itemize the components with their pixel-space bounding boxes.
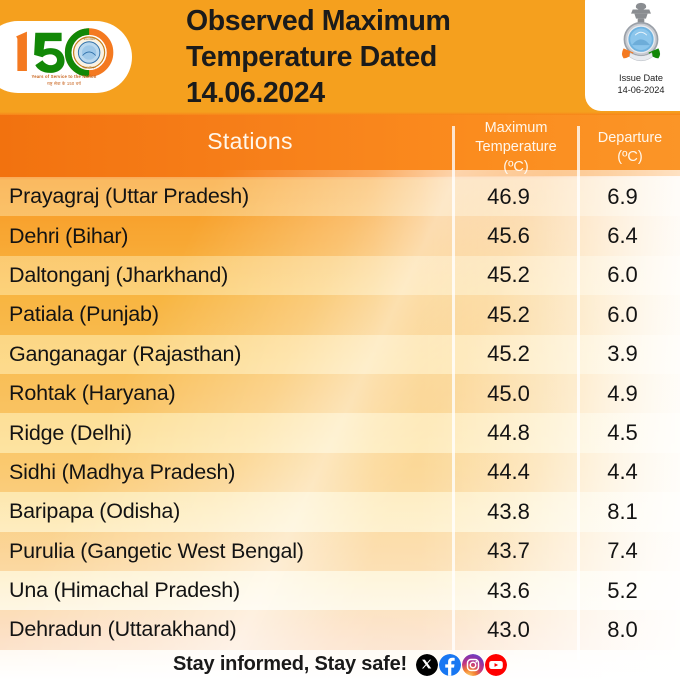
cell-departure: 4.9 — [571, 381, 674, 407]
cell-station: Dehradun (Uttarakhand) — [0, 617, 446, 642]
cell-departure: 6.4 — [571, 223, 674, 249]
cell-departure: 5.2 — [571, 578, 674, 604]
cell-max-temperature: 43.6 — [446, 578, 571, 604]
cell-max-temperature: 45.6 — [446, 223, 571, 249]
cell-max-temperature: 45.2 — [446, 302, 571, 328]
cell-departure: 6.0 — [571, 262, 674, 288]
cell-max-temperature: 45.2 — [446, 341, 571, 367]
instagram-icon[interactable] — [462, 654, 484, 676]
title-line-1: Observed Maximum — [186, 3, 586, 39]
cell-departure: 6.9 — [571, 184, 674, 210]
column-header-stations: Stations — [100, 128, 400, 155]
cell-station: Ridge (Delhi) — [0, 421, 446, 446]
cell-station: Dehri (Bihar) — [0, 224, 446, 249]
cell-max-temperature: 44.4 — [446, 459, 571, 485]
cell-departure: 8.1 — [571, 499, 674, 525]
cell-station: Prayagraj (Uttar Pradesh) — [0, 184, 446, 209]
column-header-departure-label: Departure — [598, 130, 662, 146]
cell-station: Ganganagar (Rajasthan) — [0, 342, 446, 367]
cell-station: Daltonganj (Jharkhand) — [0, 263, 446, 288]
page-title: Observed Maximum Temperature Dated 14.06… — [186, 3, 586, 112]
title-line-2: Temperature Dated — [186, 39, 586, 75]
cell-departure: 8.0 — [571, 617, 674, 643]
cell-max-temperature: 45.2 — [446, 262, 571, 288]
svg-text:विज्ञान विभाग: विज्ञान विभाग — [83, 66, 96, 70]
youtube-icon[interactable] — [485, 654, 507, 676]
issue-date-card: Issue Date 14-06-2024 — [585, 0, 680, 111]
cell-departure: 4.4 — [571, 459, 674, 485]
issue-date-text: Issue Date 14-06-2024 — [618, 72, 665, 96]
logo-tagline: Years of Service to the Nation राष्ट्र स… — [4, 74, 124, 87]
title-line-3: 14.06.2024 — [186, 75, 586, 111]
poster-header: भारत मौसम विज्ञान विभाग Years of Service… — [0, 0, 680, 115]
footer-message: Stay informed, Stay safe! — [173, 653, 407, 676]
svg-text:भारत मौसम: भारत मौसम — [83, 37, 95, 41]
imd-emblem-icon — [612, 2, 670, 70]
cell-station: Purulia (Gangetic West Bengal) — [0, 539, 446, 564]
cell-departure: 3.9 — [571, 341, 674, 367]
cell-station: Baripapa (Odisha) — [0, 499, 446, 524]
cell-station: Rohtak (Haryana) — [0, 381, 446, 406]
x-twitter-icon[interactable] — [416, 654, 438, 676]
poster-footer: Stay informed, Stay safe! — [0, 653, 680, 676]
cell-max-temperature: 45.0 — [446, 381, 571, 407]
cell-max-temperature: 44.8 — [446, 420, 571, 446]
cell-station: Sidhi (Madhya Pradesh) — [0, 460, 446, 485]
cell-station: Patiala (Punjab) — [0, 302, 446, 327]
poster-canvas: भारत मौसम विज्ञान विभाग Years of Service… — [0, 0, 680, 680]
social-links — [416, 654, 507, 676]
issue-date-label: Issue Date — [618, 72, 665, 84]
issue-date-value: 14-06-2024 — [618, 84, 665, 96]
cell-departure: 7.4 — [571, 538, 674, 564]
cell-departure: 6.0 — [571, 302, 674, 328]
cell-max-temperature: 43.0 — [446, 617, 571, 643]
cell-station: Una (Himachal Pradesh) — [0, 578, 446, 603]
facebook-icon[interactable] — [439, 654, 461, 676]
cell-departure: 4.5 — [571, 420, 674, 446]
column-header-max-temperature-unit: (ºC) — [503, 159, 528, 175]
cell-max-temperature: 43.8 — [446, 499, 571, 525]
column-header-max-temperature-label: Maximum Temperature — [475, 120, 556, 155]
column-header-departure-unit: (ºC) — [617, 149, 642, 165]
cell-max-temperature: 46.9 — [446, 184, 571, 210]
imd-150-years-logo: भारत मौसम विज्ञान विभाग Years of Service… — [0, 21, 132, 93]
column-header-departure: Departure (ºC) — [580, 129, 680, 168]
cell-max-temperature: 43.7 — [446, 538, 571, 564]
column-header-max-temperature: Maximum Temperature (ºC) — [455, 119, 577, 177]
